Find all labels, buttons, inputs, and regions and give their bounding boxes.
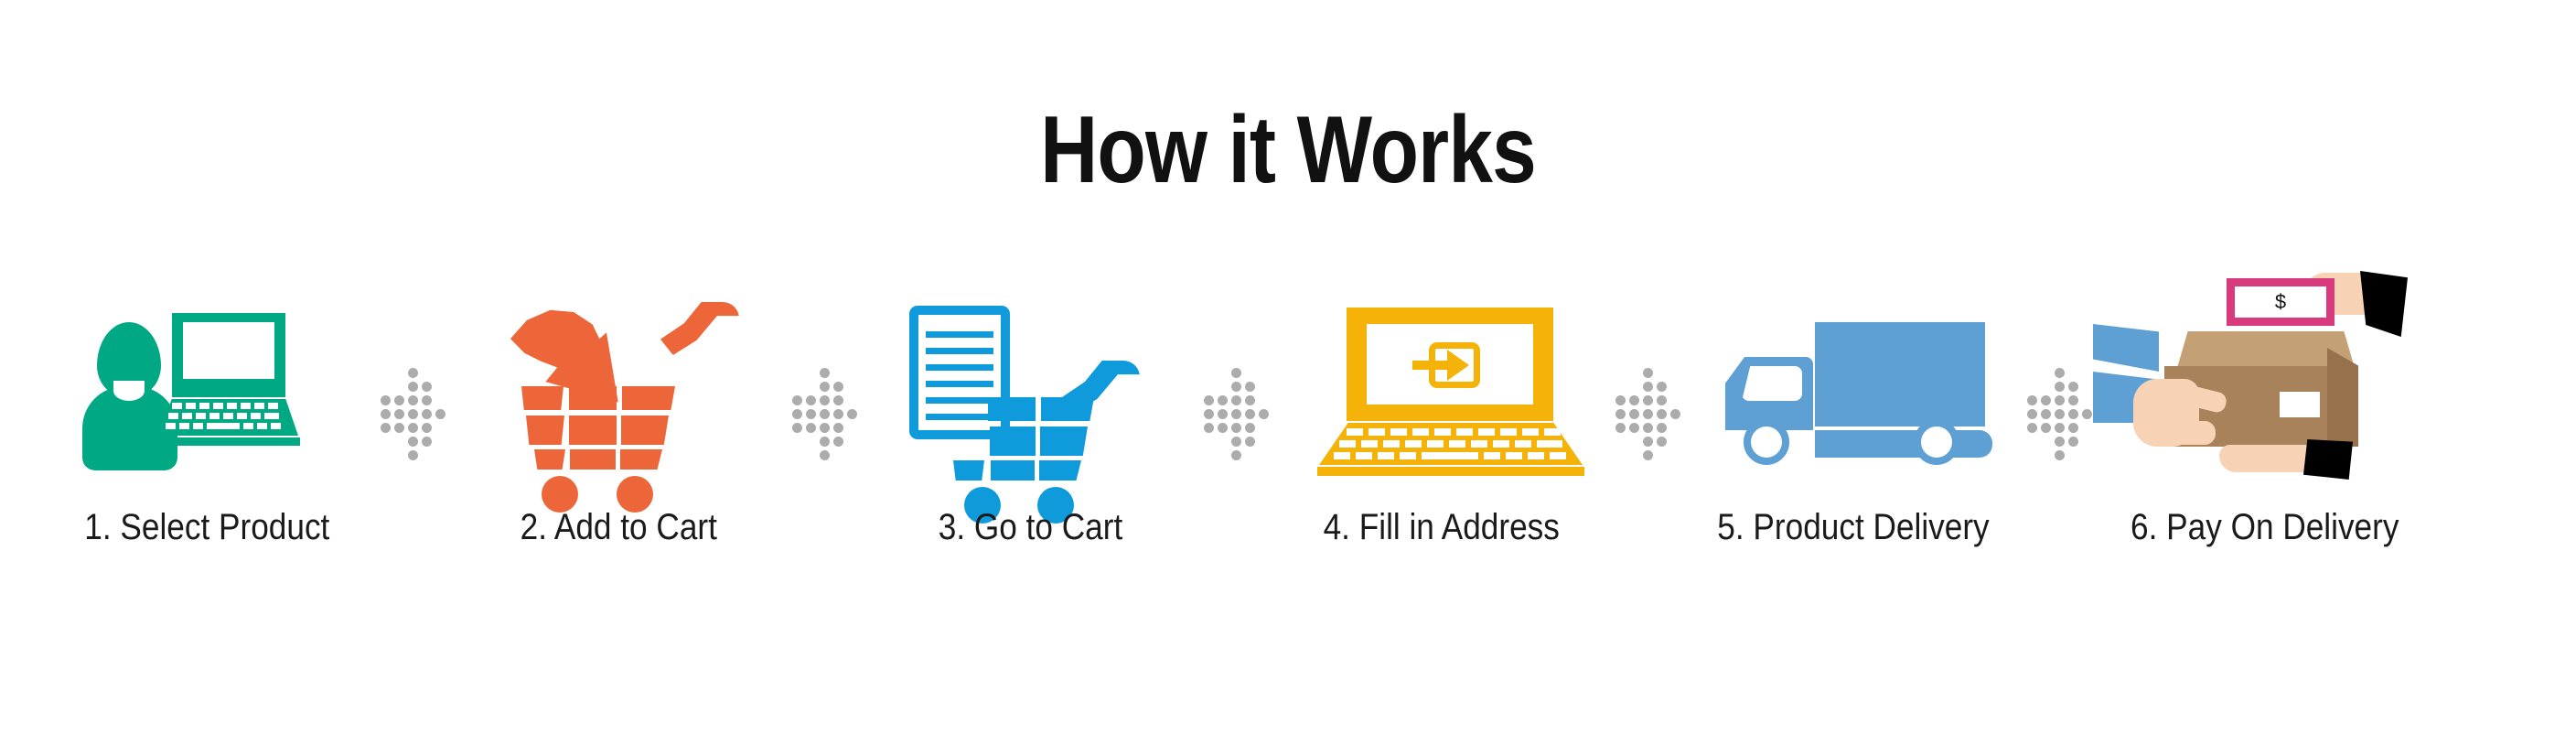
- cart-basket-row-2b: [1040, 426, 1088, 456]
- upper-sleeve-cuff: [2360, 271, 2408, 337]
- step-6-pay-on-delivery[interactable]: $ 6. Pay: [2095, 302, 2435, 548]
- step-6-label: 6. Pay On Delivery: [2131, 507, 2399, 548]
- page-title: How it Works: [206, 103, 2369, 198]
- lower-hand-palm: [2219, 445, 2316, 472]
- person-at-laptop-icon: [37, 302, 377, 476]
- truck-wheel-front: [1744, 419, 1789, 465]
- laptop-keys-group: [1336, 428, 1566, 461]
- step-3-go-to-cart[interactable]: 3. Go to Cart: [860, 302, 1200, 548]
- arrow-into-shopping-cart-icon: [448, 302, 789, 476]
- hands-exchanging-box-and-cash-icon: $: [2095, 302, 2435, 476]
- step-2-label: 2. Add to Cart: [520, 507, 716, 548]
- step-2-add-to-cart[interactable]: 2. Add to Cart: [448, 302, 789, 548]
- left-sleeve-upper: [2093, 324, 2159, 372]
- document-with-cart-icon: [860, 302, 1200, 476]
- cart-basket-row-1a: [521, 386, 563, 410]
- document-line: [926, 364, 993, 371]
- step-5-product-delivery[interactable]: 5. Product Delivery: [1683, 302, 2023, 548]
- step-5-label: 5. Product Delivery: [1717, 507, 1989, 548]
- box-side-face: [2327, 348, 2358, 447]
- document-line: [926, 414, 993, 420]
- cart-basket-row-3a: [953, 460, 984, 480]
- login-arrow-head: [1447, 350, 1469, 381]
- how-it-works-infographic: How it Works: [0, 0, 2576, 745]
- step-4-label: 4. Fill in Address: [1324, 507, 1560, 548]
- separator-arrow-2: [789, 302, 860, 476]
- steps-row: 1. Select Product: [0, 302, 2576, 686]
- cart-basket-row-2b: [569, 416, 617, 445]
- left-hand-fingers: [2168, 421, 2216, 445]
- cart-basket-row-2a: [526, 416, 564, 445]
- step-4-fill-in-address[interactable]: 4. Fill in Address: [1272, 302, 1612, 548]
- step-1-label: 1. Select Product: [84, 507, 329, 548]
- truck-chassis: [1815, 430, 1992, 458]
- cart-handle-shape: [660, 302, 739, 355]
- cart-basket-row-3b: [991, 460, 1035, 480]
- laptop-keys-group: [168, 403, 289, 432]
- truck-window: [1742, 366, 1802, 401]
- cart-basket-row-3a: [534, 449, 565, 470]
- cart-basket-row-2a: [990, 426, 1036, 456]
- laptop-foot-bar: [157, 437, 300, 446]
- separator-arrow-1: [377, 302, 448, 476]
- separator-arrow-4: [1612, 302, 1683, 476]
- step-3-label: 3. Go to Cart: [938, 507, 1122, 548]
- laptop-foot-bar: [1317, 467, 1584, 476]
- box-shipping-label: [2280, 392, 2320, 417]
- cart-basket-row-1b: [569, 386, 617, 410]
- cart-basket-row-3c: [620, 449, 662, 470]
- cart-basket-row-3b: [570, 449, 616, 470]
- separator-arrow-3: [1200, 302, 1272, 476]
- person-neck-notch: [113, 381, 145, 401]
- separator-arrow-5: [2023, 302, 2095, 476]
- cart-basket-row-1a: [988, 397, 1036, 421]
- cart-group: [990, 362, 1173, 463]
- cart-basket-row-1c: [622, 386, 675, 410]
- banknote-dollar-symbol: $: [2227, 278, 2334, 326]
- laptop-screen-inner: [183, 322, 274, 379]
- cart-basket-row-1b: [1041, 397, 1094, 421]
- delivery-truck-icon: [1683, 302, 2023, 476]
- lower-sleeve-cuff: [2303, 439, 2353, 480]
- document-line: [926, 397, 993, 404]
- cart-basket-row-2c: [621, 416, 669, 445]
- truck-cargo-box: [1815, 322, 1985, 426]
- truck-wheel-rear: [1914, 419, 1959, 465]
- document-line: [926, 348, 993, 354]
- document-line: [926, 381, 993, 387]
- step-1-select-product[interactable]: 1. Select Product: [37, 302, 377, 548]
- laptop-login-icon: [1272, 302, 1612, 476]
- document-line: [926, 331, 993, 338]
- cart-basket-row-3c: [1039, 460, 1081, 480]
